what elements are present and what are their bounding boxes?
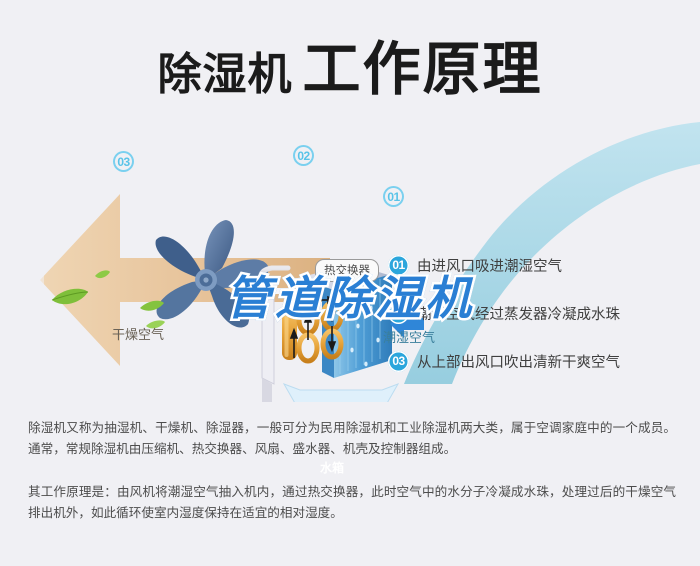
list-item: 01 由进风口吸进潮湿空气 — [388, 252, 620, 278]
step-badge: 01 — [388, 255, 409, 276]
list-item: 03 从上部出风口吹出清新干爽空气 — [388, 348, 620, 374]
page-title-part2: 工作原理 — [302, 37, 542, 102]
page-title: 除湿机工作原理 — [0, 22, 700, 106]
diagram-badge-01: 01 — [383, 186, 404, 207]
body-copy: 除湿机又称为抽湿机、干燥机、除湿器，一般可分为民用除湿机和工业除湿机两大类，属于… — [28, 418, 676, 533]
step-text: 由进风口吸进潮湿空气 — [417, 255, 562, 276]
page-title-part1: 除湿机 — [157, 50, 292, 99]
page-root: 除湿机工作原理 — [0, 0, 700, 566]
label-heat-exchanger: 热交换器 — [315, 259, 379, 282]
step-badge: 03 — [388, 351, 409, 372]
label-dry-air: 干燥空气 — [112, 324, 164, 343]
drip-pan — [284, 384, 398, 402]
diagram-badge-03: 03 — [113, 151, 134, 172]
paragraph-2: 其工作原理是：由风机将潮湿空气抽入机内，通过热交换器，此时空气中的水分子冷凝成水… — [28, 482, 676, 524]
diagram-badge-02: 02 — [293, 145, 314, 166]
step-text: 从上部出风口吹出清新干爽空气 — [417, 351, 620, 372]
paragraph-1: 除湿机又称为抽湿机、干燥机、除湿器，一般可分为民用除湿机和工业除湿机两大类，属于… — [28, 418, 676, 460]
list-item: 02 潮湿空气经过蒸发器冷凝成水珠 — [388, 300, 620, 326]
step-badge: 02 — [388, 303, 409, 324]
step-text: 潮湿空气经过蒸发器冷凝成水珠 — [417, 303, 620, 324]
steps-list: 01 由进风口吸进潮湿空气 02 潮湿空气经过蒸发器冷凝成水珠 03 从上部出风… — [388, 252, 620, 396]
